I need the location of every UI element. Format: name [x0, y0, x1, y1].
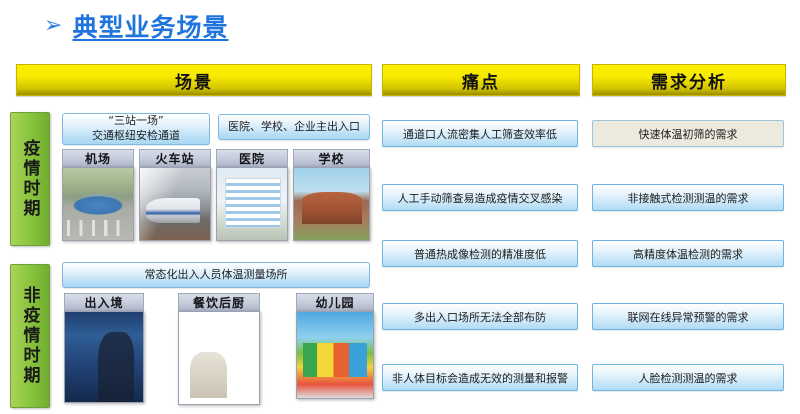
school-photo [293, 167, 370, 241]
requirement-box: 高精度体温检测的需求 [592, 240, 784, 267]
requirement-box: 人脸检测测温的需求 [592, 364, 784, 391]
period-label-epidemic: 疫情时期 [10, 112, 50, 246]
column-header-pain-point: 痛点 [382, 64, 580, 96]
requirement-box: 非接触式检测测温的需求 [592, 184, 784, 211]
column-header-requirement-analysis: 需求分析 [592, 64, 786, 96]
scene-card-restaurant-kitchen-caption: 餐饮后厨 [178, 293, 260, 311]
scene-card-train-station-caption: 火车站 [139, 149, 211, 167]
scene-card-restaurant-kitchen: 餐饮后厨 [178, 293, 260, 405]
scene-card-train-station: 火车站 [139, 149, 211, 241]
page-title: ➢ 典型业务场景 [44, 8, 228, 44]
scene-card-kindergarten-caption: 幼儿园 [296, 293, 374, 311]
immigration-photo [64, 311, 144, 403]
airport-photo [62, 167, 134, 241]
scene-card-airport: 机场 [62, 149, 134, 241]
scene-card-kindergarten: 幼儿园 [296, 293, 374, 399]
scene-card-immigration-caption: 出入境 [64, 293, 144, 311]
scene-card-school: 学校 [293, 149, 370, 241]
period-label-epidemic-text: 疫情时期 [18, 139, 43, 219]
scene-card-immigration: 出入境 [64, 293, 144, 403]
scene-box-transport-hub-line1: “三站一场” [92, 114, 180, 129]
scene-box-transport-hub: “三站一场” 交通枢纽安检通道 [62, 113, 210, 145]
column-header-scene: 场景 [16, 64, 372, 96]
arrow-bullet-icon: ➢ [44, 15, 62, 37]
kitchen-photo [178, 311, 260, 405]
pain-point-box: 人工手动筛查易造成疫情交叉感染 [382, 184, 578, 211]
scene-box-transport-hub-line2: 交通枢纽安检通道 [92, 129, 180, 144]
pain-point-box: 多出入口场所无法全部布防 [382, 303, 578, 330]
kindergarten-photo [296, 311, 374, 399]
scene-card-airport-caption: 机场 [62, 149, 134, 167]
period-label-non-epidemic: 非疫情时期 [10, 264, 50, 408]
pain-point-box: 通道口人流密集人工筛查效率低 [382, 120, 578, 147]
scene-box-entrances: 医院、学校、企业主出入口 [218, 114, 370, 140]
requirement-box: 快速体温初筛的需求 [592, 120, 784, 147]
period-label-non-epidemic-text: 非疫情时期 [18, 286, 43, 386]
pain-point-box: 普通热成像检测的精准度低 [382, 240, 578, 267]
pain-point-box: 非人体目标会造成无效的测量和报警 [382, 364, 578, 391]
hospital-photo [216, 167, 288, 241]
scene-card-hospital: 医院 [216, 149, 288, 241]
scene-box-routine-temperature-sites: 常态化出入人员体温测量场所 [62, 262, 370, 288]
scene-card-hospital-caption: 医院 [216, 149, 288, 167]
scene-card-school-caption: 学校 [293, 149, 370, 167]
page-title-text: 典型业务场景 [72, 8, 228, 44]
train-station-photo [139, 167, 211, 241]
requirement-box: 联网在线异常预警的需求 [592, 303, 784, 330]
